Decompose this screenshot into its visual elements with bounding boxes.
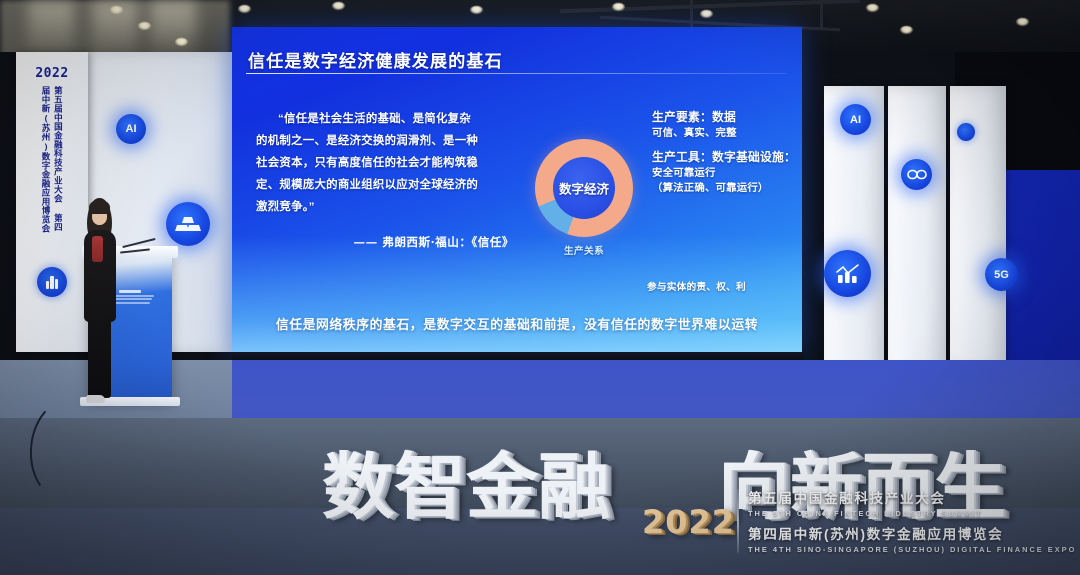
spot-light [238,5,251,13]
right-col-sub: 可信、真实、完整 [652,126,802,142]
spot-light [470,6,483,14]
subtitle-en: THE 4TH SINO-SINGAPORE (SUZHOU) DIGITAL … [748,545,1066,554]
gold-bars-glyph [175,215,201,233]
quote-line: 社会资本，只有高度信任的社会才能构筑稳 [256,153,514,175]
speaker-shoe [86,395,105,403]
spot-light [175,38,188,46]
right-col-heading: 生产要素：数据 [652,109,802,126]
donut-bottom-label: 生产关系 [526,243,642,257]
chain-link-glyph [907,169,927,180]
subtitle-cn: 第五届中国金融科技产业大会 [748,487,1066,507]
conference-stage-photo: AI 2022 第五届中国金融科技产业大会 第四届中新(苏州)数字金融应用博览会… [0,0,1080,575]
right-col-heading: 生产工具：数字基础设施： [652,149,802,166]
spot-light [138,22,151,30]
slide-right-note: 参与实体的责、权、利 [647,279,746,293]
ceiling-truss [820,0,823,30]
speaker [78,198,122,403]
ai-icon-label: AI [850,114,861,126]
title-divider [737,489,739,553]
bar-chart-glyph [835,264,861,284]
bar-chart-icon [37,267,67,297]
spot-light [332,2,345,10]
ai-icon: AI [116,114,146,144]
spot-light [1016,18,1029,26]
5g-icon: 5G [985,258,1018,291]
speaker-scarf [92,236,103,262]
donut-center-label: 数字经济 [559,179,609,198]
subtitle-cn: 第四届中新(苏州)数字金融应用博览会 [748,523,1066,543]
speaker-hair-top [89,200,110,214]
donut-ring: 数字经济 [535,139,633,237]
quote-line: “信任是社会生活的基础、是简化复杂 [256,109,514,131]
speaker-legs [88,316,111,398]
spot-light [700,10,713,18]
ai-icon: AI [840,104,871,135]
slide-right-column: 生产要素：数据 可信、真实、完整 生产工具：数字基础设施： 安全可靠运行 （算法… [652,109,802,197]
ai-icon-label: AI [126,123,137,135]
quote-line: 激烈竞争。” [256,197,514,219]
led-presentation-screen: 信任是数字经济健康发展的基石 “信任是社会生活的基础、是简化复杂 的机制之一、是… [232,27,802,355]
quote-line: 定、规模庞大的商业组织以应对全球经济的 [256,175,514,197]
stage-title-line-1: 数智金融 [322,428,610,533]
banner-year: 2022 [35,66,68,81]
5g-icon-label: 5G [994,269,1009,281]
right-pillar-2 [888,86,946,376]
screen-glare [232,235,802,355]
quote-attribution: —— 弗朗西斯·福山：《信任》 [256,234,514,250]
right-col-sub: 安全可靠运行 （算法正确、可靠运行） [652,166,802,197]
spot-light [612,3,625,11]
quote-line: 的机制之一、是经济交换的润滑剂、是一种 [256,131,514,153]
bar-chart-icon [824,250,871,297]
stage-title-year: 2022 [642,503,735,541]
donut-diagram: 生产资料 数字经济 生产关系 [526,119,642,269]
spot-light [110,6,123,14]
stage-subtitles: 第五届中国金融科技产业大会 THE 5TH CHINA FINTECH INDU… [748,487,1066,559]
gold-bars-icon [166,202,210,246]
spot-light [866,4,879,12]
banner-vertical-text: 第五届中国金融科技产业大会 第四届中新(苏州)数字金融应用博览会 [40,86,65,236]
slide-title-rule [246,73,786,74]
blockchain-link-icon [901,159,932,190]
spot-light [900,26,913,34]
slide-quote: “信任是社会生活的基础、是简化复杂 的机制之一、是经济交换的润滑剂、是一种 社会… [256,109,514,218]
slide-title: 信任是数字经济健康发展的基石 [248,47,503,72]
slide-footer-text: 信任是网络秩序的基石，是数字交互的基础和前提，没有信任的数字世界难以运转 [232,314,802,333]
dot-icon [957,123,975,141]
subtitle-en: THE 5TH CHINA FINTECH INDUSTRY SUMMIT [748,509,1066,518]
